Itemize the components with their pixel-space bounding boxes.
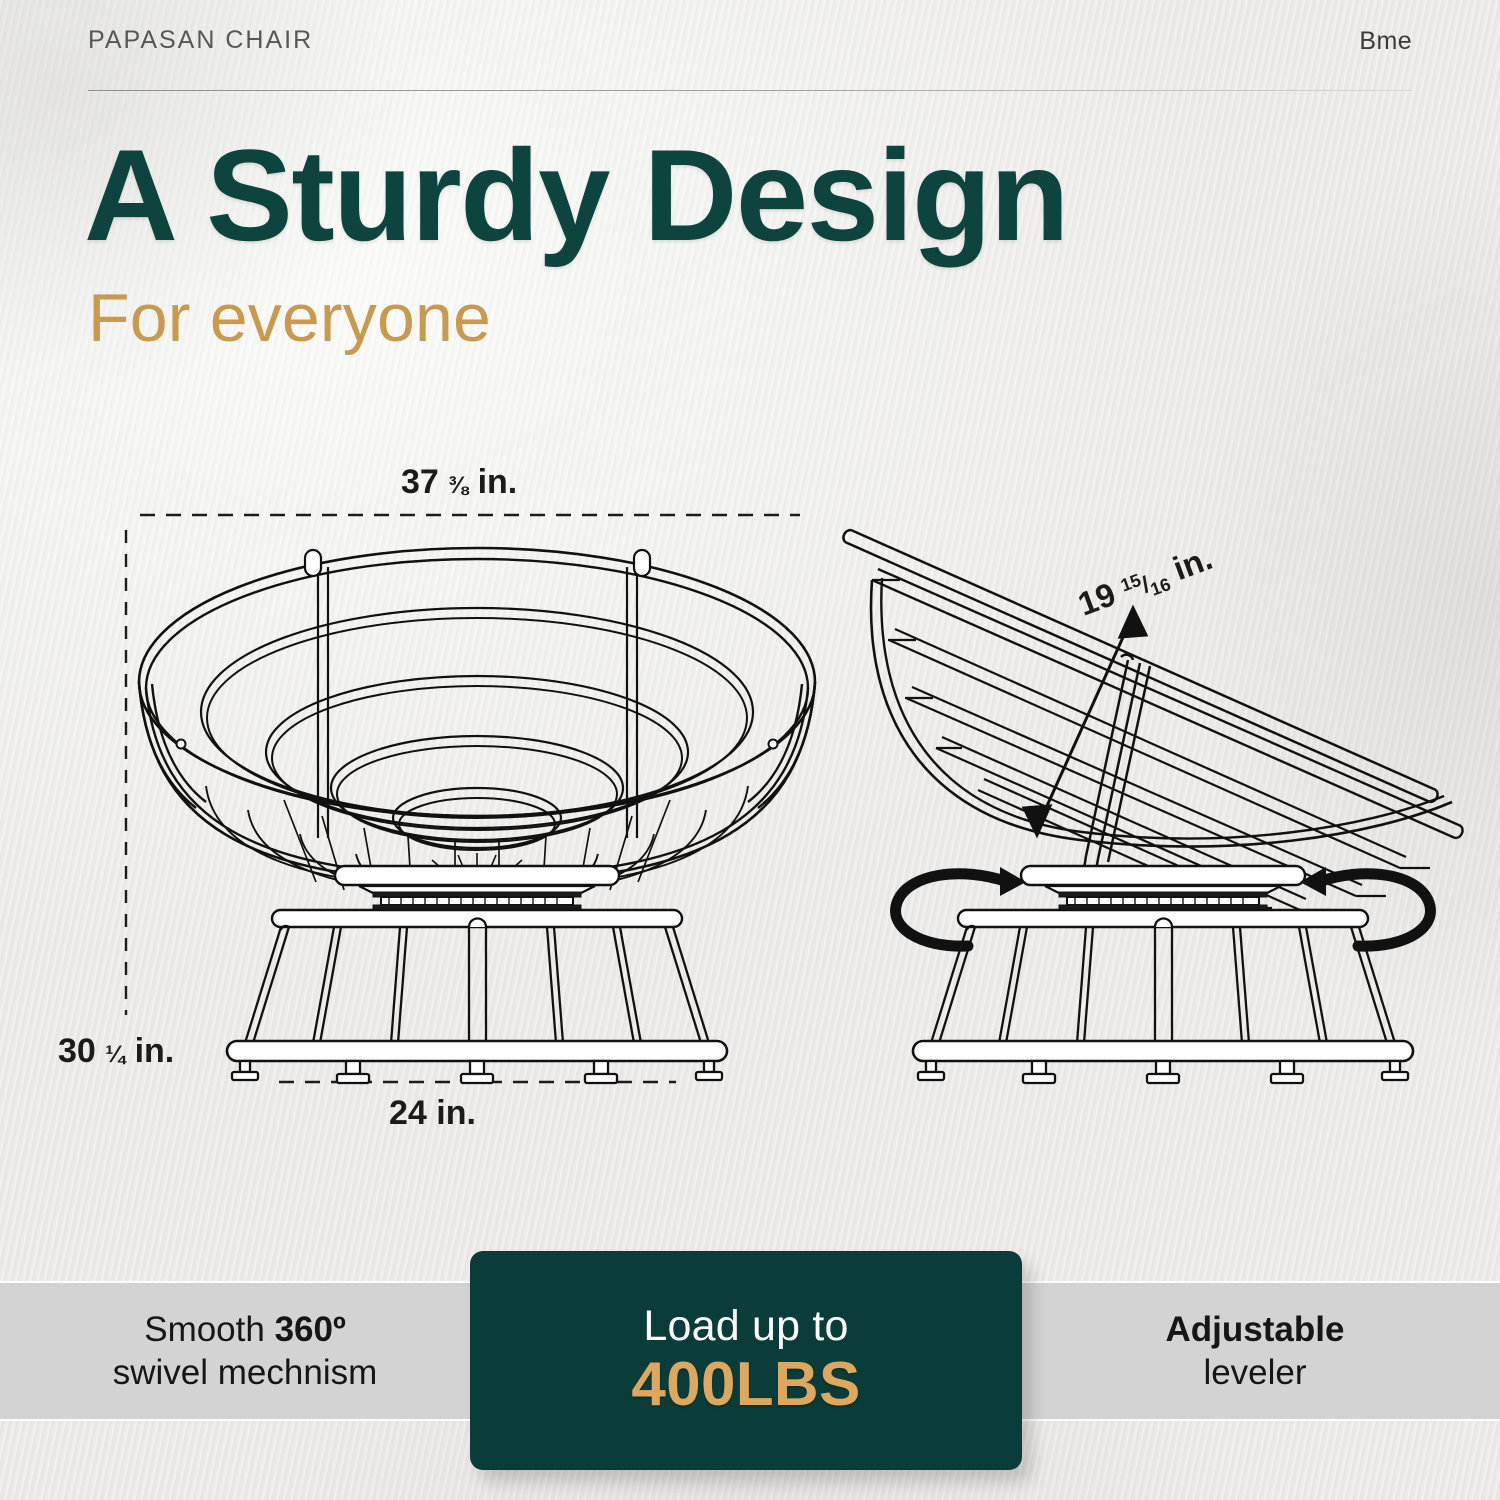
infographic-page: PAPASAN CHAIR Bme A Sturdy Design For ev…	[0, 0, 1500, 1500]
feature-swivel-line1: Smooth 360º	[144, 1308, 346, 1351]
dimension-label-height: 30 ¼ in.	[58, 1032, 174, 1071]
feature-swivel: Smooth 360º swivel mechnism	[30, 1281, 460, 1421]
chair-bowl-front-view	[139, 548, 815, 902]
dimension-label-depth: 24 in.	[389, 1094, 476, 1133]
feature-leveler-line2: leveler	[1203, 1351, 1306, 1394]
load-capacity-card: Load up to 400LBS	[470, 1251, 1022, 1470]
product-category-label: PAPASAN CHAIR	[88, 26, 313, 55]
dimension-label-width: 37 ⅜ in.	[401, 463, 517, 502]
swivel-rotation-arrow-left	[896, 867, 1026, 946]
page-subtitle: For everyone	[88, 284, 491, 352]
load-capacity-caption: Load up to	[643, 1302, 848, 1350]
swivel-mechanism-right	[1021, 866, 1305, 910]
page-title: A Sturdy Design	[84, 128, 1068, 263]
adjustable-base-left	[227, 910, 727, 1083]
page-header: PAPASAN CHAIR Bme	[88, 26, 1412, 78]
feature-leveler: Adjustable leveler	[1040, 1281, 1470, 1421]
load-capacity-value: 400LBS	[631, 1350, 860, 1419]
brand-logo-text: Bme	[1359, 27, 1412, 56]
swivel-mechanism-left	[335, 866, 619, 910]
swivel-rotation-arrow-right	[1300, 867, 1430, 946]
feature-swivel-line2: swivel mechnism	[113, 1351, 378, 1394]
feature-leveler-line1: Adjustable	[1166, 1308, 1345, 1351]
adjustable-base-right	[913, 910, 1413, 1083]
header-divider	[88, 90, 1412, 91]
product-dimension-diagram	[0, 430, 1500, 1170]
